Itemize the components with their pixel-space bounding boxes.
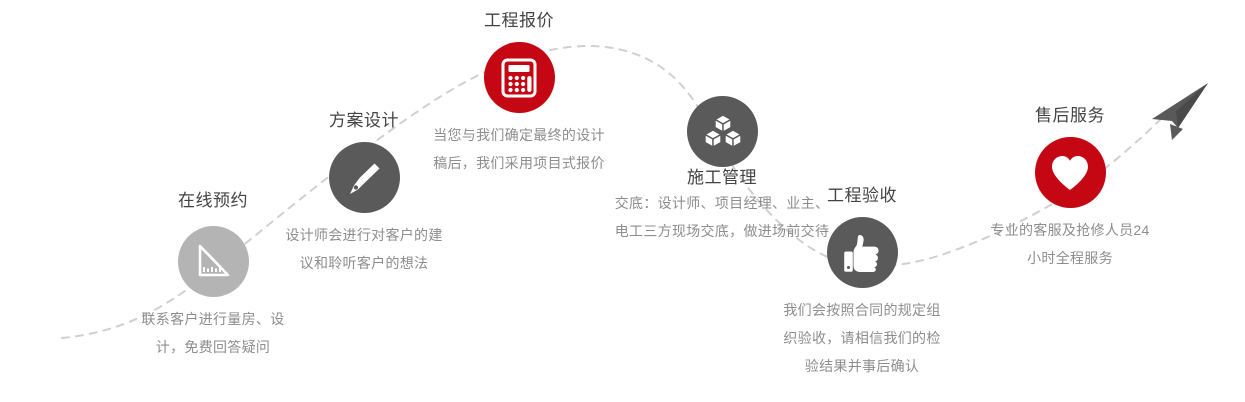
thumbs-up-icon	[841, 232, 883, 274]
stacked-boxes-icon	[702, 112, 744, 152]
step-3-icon-circle[interactable]	[484, 42, 555, 113]
step-1-icon-circle[interactable]	[178, 226, 249, 297]
ruler-triangle-icon	[193, 242, 233, 282]
step-6-description: 专业的客服及抢修人员24小时全程服务	[985, 216, 1155, 272]
step-6-icon-circle[interactable]	[1035, 137, 1106, 208]
step-4-icon-circle[interactable]	[687, 96, 758, 167]
step-3-project-quotation[interactable]: 工程报价 当您与我们确定最终的设计稿后，我们	[429, 10, 609, 177]
step-3-description: 当您与我们确定最终的设计稿后，我们采用项目式报价	[429, 121, 609, 177]
calculator-icon	[499, 57, 539, 99]
step-1-online-booking[interactable]: 在线预约 联系客户进行量房、设计，免费回答疑问	[128, 190, 298, 361]
step-5-icon-circle[interactable]	[827, 217, 898, 288]
step-1-title: 在线预约	[128, 190, 298, 212]
step-3-title: 工程报价	[429, 10, 609, 32]
step-6-after-sales-service[interactable]: 售后服务 专业的客服及抢修人员24小时全程服务	[985, 105, 1155, 272]
arrow-head-icon	[1152, 83, 1208, 140]
process-flow-diagram: 在线预约 联系客户进行量房、设计，免费回答疑问 方案设计	[0, 0, 1245, 402]
step-5-description: 我们会按照合同的规定组织验收，请相信我们的检验结果并事后确认	[777, 296, 947, 380]
fountain-pen-icon	[343, 157, 385, 199]
step-1-description: 联系客户进行量房、设计，免费回答疑问	[128, 305, 298, 361]
step-2-title: 方案设计	[279, 110, 449, 132]
step-5-title: 工程验收	[777, 185, 947, 207]
step-2-scheme-design[interactable]: 方案设计 设计师会进行对客户的建议和聆听客户的想法	[279, 110, 449, 277]
step-2-icon-circle[interactable]	[329, 142, 400, 213]
step-5-project-acceptance[interactable]: 工程验收 我们会按照合同的规定组织验收，请相信我们的检验结果并事后确认	[777, 185, 947, 380]
heart-icon	[1050, 154, 1090, 192]
step-2-description: 设计师会进行对客户的建议和聆听客户的想法	[279, 221, 449, 277]
step-6-title: 售后服务	[985, 105, 1155, 127]
